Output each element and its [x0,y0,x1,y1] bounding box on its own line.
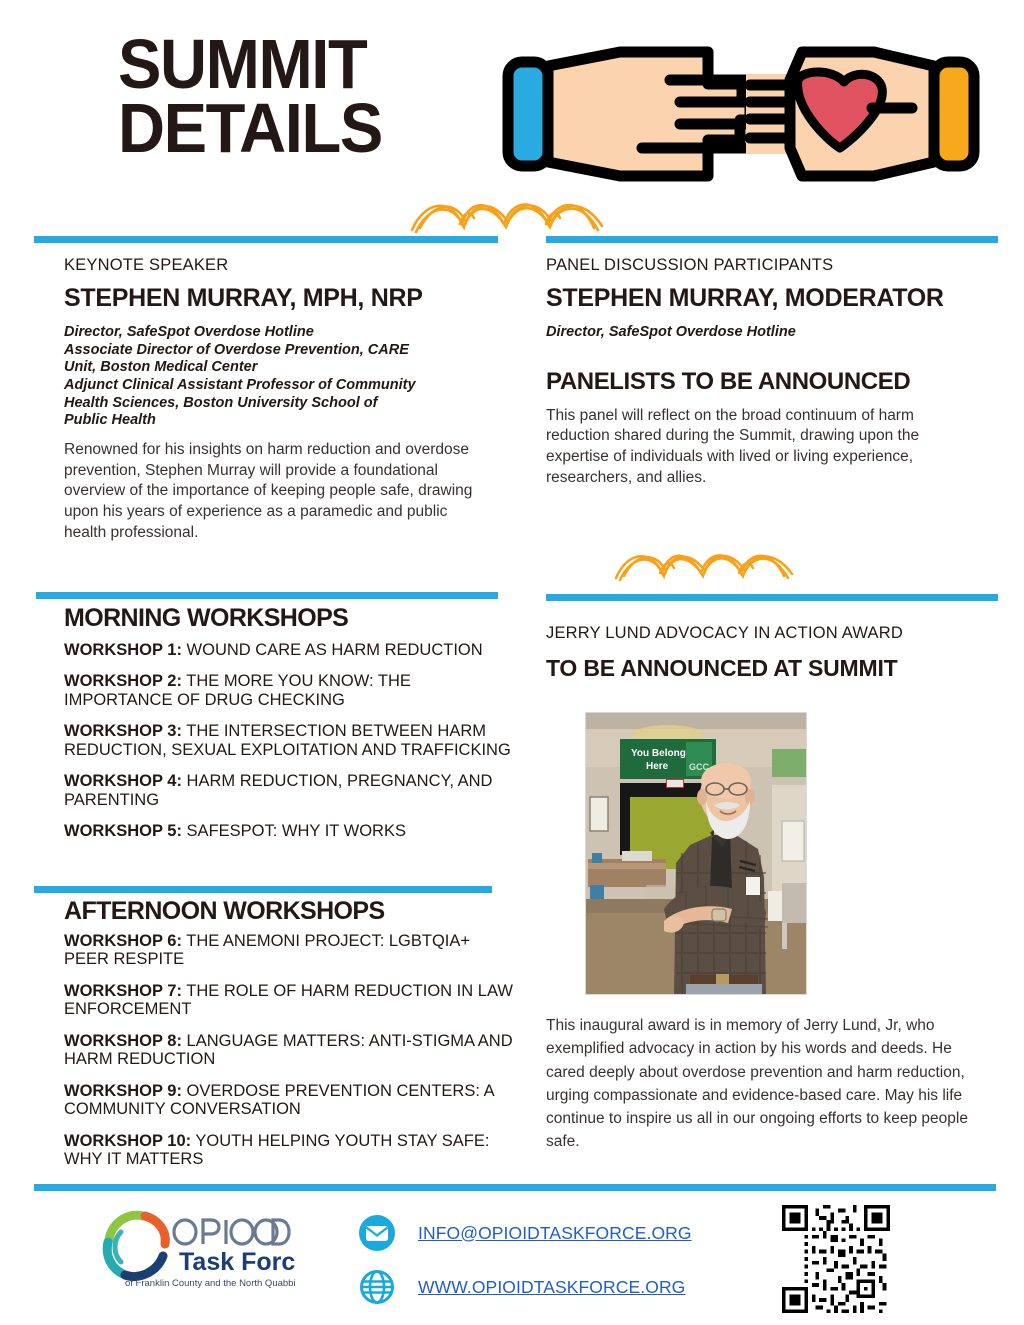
list-item: WORKSHOP 6: THE ANEMONI PROJECT: LGBTQIA… [64,932,514,969]
email-link[interactable]: INFO@OPIOIDTASKFORCE.ORG [418,1223,692,1244]
svg-text:Task Force: Task Force [179,1248,295,1276]
keynote-roles: Director, SafeSpot Overdose Hotline Asso… [64,324,504,430]
globe-icon [358,1268,396,1306]
website-link[interactable]: WWW.OPIOIDTASKFORCE.ORG [418,1277,685,1298]
panel-section: PANEL DISCUSSION PARTICIPANTS STEPHEN MU… [546,256,996,488]
workshop-label: WORKSHOP 9: [64,1082,182,1100]
page-title: SUMMIT DETAILS [118,32,498,161]
workshop-title: WOUND CARE AS HARM REDUCTION [182,641,483,659]
contact-info: INFO@OPIOIDTASKFORCE.ORG WWW.OPIOIDTASKF… [358,1212,692,1320]
award-body-wrap: This inaugural award is in memory of Jer… [546,1014,996,1154]
divider-award-section [546,594,998,601]
workshop-label: WORKSHOP 4: [64,772,182,790]
keynote-role-line: Director, SafeSpot Overdose Hotline [64,324,504,342]
envelope-icon [358,1214,396,1252]
workshop-title: SAFESPOT: WHY IT WORKS [182,822,406,840]
list-item: WORKSHOP 5: SAFESPOT: WHY IT WORKS [64,822,514,840]
keynote-eyebrow: KEYNOTE SPEAKER [64,256,504,275]
award-heading: TO BE ANNOUNCED AT SUMMIT [546,655,996,682]
morning-workshops-heading: MORNING WORKSHOPS [64,604,514,633]
panel-eyebrow: PANEL DISCUSSION PARTICIPANTS [546,256,996,275]
summit-details-flyer: SUMMIT DETAILS [0,0,1024,1325]
panel-moderator-role: Director, SafeSpot Overdose Hotline [546,324,996,342]
keynote-bio: Renowned for his insights on harm reduct… [64,440,492,543]
award-section: JERRY LUND ADVOCACY IN ACTION AWARD TO B… [546,624,996,682]
morning-workshops-list: WORKSHOP 1: WOUND CARE AS HARM REDUCTION… [64,641,514,841]
award-eyebrow: JERRY LUND ADVOCACY IN ACTION AWARD [546,624,996,643]
orange-squiggle-divider-top [408,194,624,234]
orange-squiggle-divider-right [612,546,812,582]
qr-code[interactable] [782,1205,890,1313]
divider-panel-top [546,236,998,243]
award-body: This inaugural award is in memory of Jer… [546,1014,984,1154]
panelists-body: This panel will reflect on the broad con… [546,406,970,488]
list-item: WORKSHOP 8: LANGUAGE MATTERS: ANTI-STIGM… [64,1032,514,1069]
keynote-name: STEPHEN MURRAY, MPH, NRP [64,284,504,313]
hands-passing-heart-icon [502,40,980,188]
keynote-role-line: Health Sciences, Boston University Schoo… [64,395,504,413]
workshop-label: WORKSHOP 1: [64,641,182,659]
list-item: WORKSHOP 4: HARM REDUCTION, PREGNANCY, A… [64,772,514,809]
keynote-section: KEYNOTE SPEAKER STEPHEN MURRAY, MPH, NRP… [64,256,504,543]
keynote-role-line: Associate Director of Overdose Preventio… [64,342,504,360]
workshop-label: WORKSHOP 5: [64,822,182,840]
workshop-label: WORKSHOP 2: [64,672,182,690]
jerry-lund-photo: You Belong Here GCC [585,712,807,995]
list-item: WORKSHOP 7: THE ROLE OF HARM REDUCTION I… [64,982,514,1019]
workshop-label: WORKSHOP 3: [64,722,182,740]
workshop-label: WORKSHOP 6: [64,932,182,950]
divider-morning-workshops [36,592,498,599]
keynote-role-line: Unit, Boston Medical Center [64,359,504,377]
title-line-1: SUMMIT [118,32,471,96]
workshop-label: WORKSHOP 8: [64,1032,182,1050]
divider-afternoon-workshops [34,886,492,893]
panelists-heading: PANELISTS TO BE ANNOUNCED [546,368,996,396]
svg-text:of Franklin County and the Nor: of Franklin County and the North Quabbin… [125,1278,295,1289]
svg-text:You Belong: You Belong [631,748,686,759]
email-row[interactable]: INFO@OPIOIDTASKFORCE.ORG [358,1212,692,1254]
website-row[interactable]: WWW.OPIOIDTASKFORCE.ORG [358,1266,692,1308]
list-item: WORKSHOP 3: THE INTERSECTION BETWEEN HAR… [64,722,514,759]
workshop-label: WORKSHOP 10: [64,1132,191,1150]
list-item: WORKSHOP 10: YOUTH HELPING YOUTH STAY SA… [64,1132,514,1169]
divider-keynote-top [34,236,498,243]
morning-workshops-section: MORNING WORKSHOPS WORKSHOP 1: WOUND CARE… [64,604,514,854]
list-item: WORKSHOP 2: THE MORE YOU KNOW: THE IMPOR… [64,672,514,709]
panel-moderator-name: STEPHEN MURRAY, MODERATOR [546,284,996,313]
svg-text:Here: Here [646,761,669,772]
list-item: WORKSHOP 1: WOUND CARE AS HARM REDUCTION [64,641,514,659]
keynote-role-line: Public Health [64,412,504,430]
title-line-2: DETAILS [118,96,471,160]
afternoon-workshops-list: WORKSHOP 6: THE ANEMONI PROJECT: LGBTQIA… [64,932,514,1169]
afternoon-workshops-heading: AFTERNOON WORKSHOPS [64,897,514,926]
workshop-label: WORKSHOP 7: [64,982,182,1000]
header: SUMMIT DETAILS [0,0,1024,238]
list-item: WORKSHOP 9: OVERDOSE PREVENTION CENTERS:… [64,1082,514,1119]
keynote-role-line: Adjunct Clinical Assistant Professor of … [64,377,504,395]
opioid-task-force-logo: Task Force of Franklin County and the No… [95,1208,295,1290]
afternoon-workshops-section: AFTERNOON WORKSHOPS WORKSHOP 6: THE ANEM… [64,897,514,1182]
